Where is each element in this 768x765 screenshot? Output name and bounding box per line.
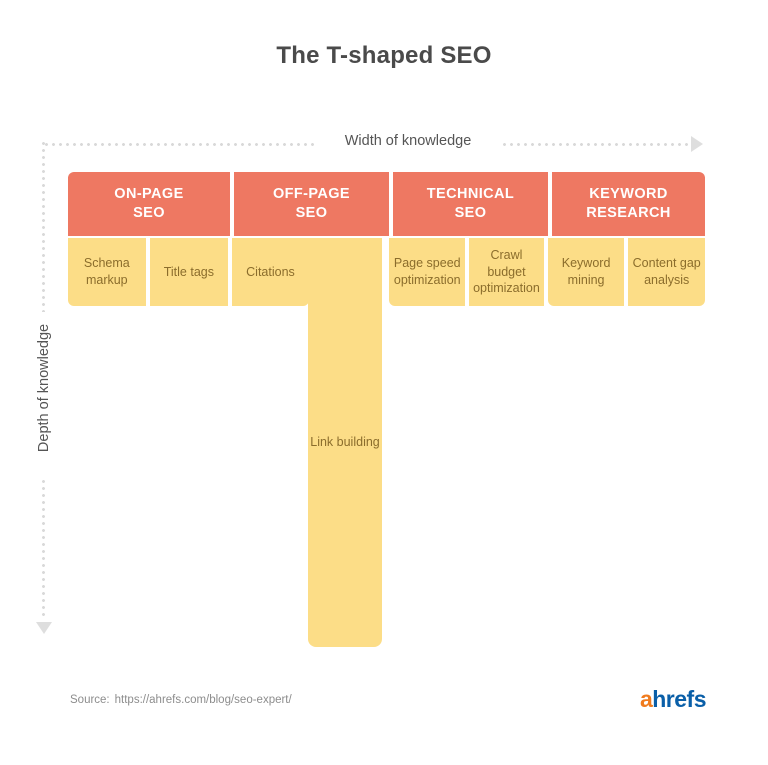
category-label-line1: ON-PAGE [114, 185, 183, 204]
category-label-line2: SEO [114, 204, 183, 223]
skill-cell-keyword-mining: Keyword mining [548, 238, 625, 306]
arrow-down-icon [36, 622, 52, 634]
source-url: https://ahrefs.com/blog/seo-expert/ [115, 694, 292, 706]
logo-text-hrefs: hrefs [652, 686, 706, 712]
ahrefs-logo: ahrefs [640, 688, 706, 711]
category-cell-off-page-seo: OFF-PAGE SEO [234, 172, 389, 236]
skill-cell-crawl-budget-optimization: Crawl budget optimization [469, 238, 544, 306]
skill-cell-schema-markup: Schema markup [68, 238, 146, 306]
skill-cell-title-tags: Title tags [150, 238, 229, 306]
category-label-line2: RESEARCH [586, 204, 671, 223]
x-axis-dotted-line-right [501, 143, 689, 146]
x-axis-dotted-line-left [43, 143, 315, 146]
x-axis-label: Width of knowledge [315, 133, 501, 149]
category-cell-on-page-seo: ON-PAGE SEO [68, 172, 230, 236]
infographic-canvas: The T-shaped SEO Width of knowledge Dept… [0, 0, 768, 765]
x-axis: Width of knowledge [43, 136, 703, 152]
deep-skill-stem-link-building: Link building [308, 238, 382, 647]
t-shape-diagram: ON-PAGE SEO OFF-PAGE SEO TECHNICAL SEO K… [68, 172, 705, 647]
category-row: ON-PAGE SEO OFF-PAGE SEO TECHNICAL SEO K… [68, 172, 705, 236]
category-label-line2: SEO [427, 204, 514, 223]
logo-letter-a: a [640, 686, 652, 712]
category-label-line1: KEYWORD [586, 185, 671, 204]
skill-cell-content-gap-analysis: Content gap analysis [628, 238, 705, 306]
y-axis: Depth of knowledge [36, 140, 52, 656]
source-attribution: Source:https://ahrefs.com/blog/seo-exper… [70, 694, 292, 706]
category-cell-keyword-research: KEYWORD RESEARCH [552, 172, 705, 236]
skill-cell-page-speed-optimization: Page speed optimization [389, 238, 465, 306]
category-label-line1: TECHNICAL [427, 185, 514, 204]
y-axis-dotted-line-lower [42, 478, 45, 618]
source-label: Source: [70, 694, 110, 706]
category-label-line2: SEO [273, 204, 350, 223]
skill-cell-citations: Citations [232, 238, 309, 306]
arrow-right-icon [691, 136, 703, 152]
page-title: The T-shaped SEO [0, 42, 768, 70]
y-axis-dotted-line-upper [42, 140, 45, 312]
skill-row: Schema markup Title tags Citations Page … [68, 238, 705, 306]
category-label-line1: OFF-PAGE [273, 185, 350, 204]
y-axis-label: Depth of knowledge [36, 318, 52, 458]
category-cell-technical-seo: TECHNICAL SEO [393, 172, 548, 236]
